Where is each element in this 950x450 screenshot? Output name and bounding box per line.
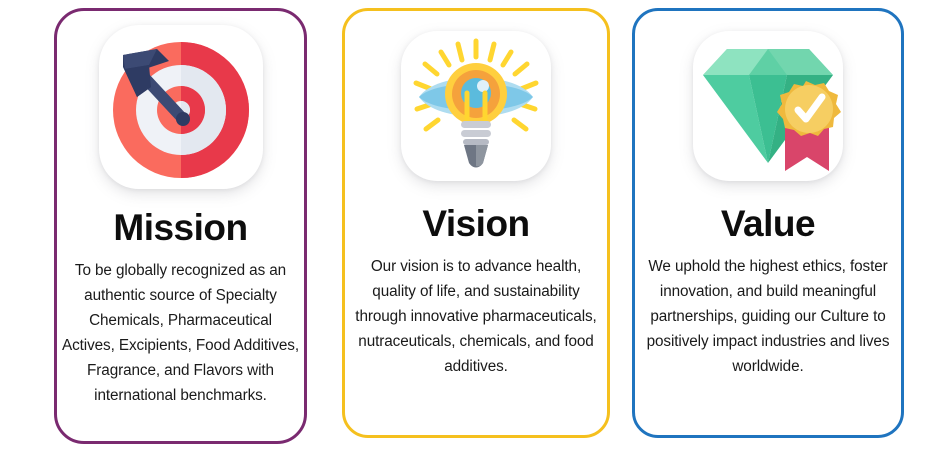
vision-icon-tile: [401, 31, 551, 181]
mission-icon-tile: [99, 25, 263, 189]
value-card: Value We uphold the highest ethics, fost…: [632, 8, 904, 438]
mission-title: Mission: [113, 209, 247, 246]
value-body-text: We uphold the highest ethics, foster inn…: [637, 255, 900, 380]
target-dartboard-icon: [99, 25, 263, 189]
diamond-award-badge-icon: [693, 31, 843, 181]
vision-body-text: Our vision is to advance health, quality…: [346, 255, 606, 380]
vision-card: Vision Our vision is to advance health, …: [342, 8, 610, 438]
mission-body-text: To be globally recognized as an authenti…: [58, 259, 304, 409]
vision-title: Vision: [422, 205, 529, 242]
eye-lightbulb-idea-icon: [401, 31, 551, 181]
value-title: Value: [721, 205, 815, 242]
mission-vision-value-board: Mission To be globally recognized as an …: [0, 0, 950, 450]
mission-card: Mission To be globally recognized as an …: [54, 8, 307, 444]
value-icon-tile: [693, 31, 843, 181]
